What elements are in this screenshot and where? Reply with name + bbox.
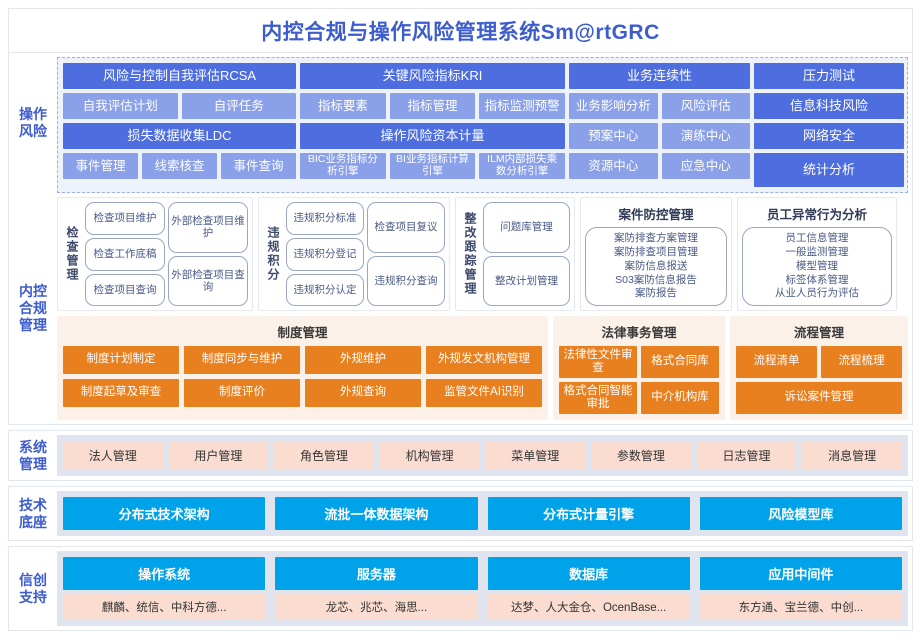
chip-risk-model-library[interactable]: 风险模型库 [700,497,902,530]
chip-stream-batch-data-architecture[interactable]: 流批一体数据架构 [275,497,477,530]
pill-external-inspection-query[interactable]: 外部检查项目查询 [168,256,248,307]
card-title-policy-management: 制度管理 [63,320,542,346]
card-process-management: 流程管理 流程清单 流程梳理 诉讼案件管理 [730,316,908,420]
section-system-management: 系统管理 法人管理 用户管理 角色管理 机构管理 菜单管理 参数管理 日志管理 … [8,430,913,481]
app-root: 内控合规与操作风险管理系统Sm@rtGRC 操作风险 风险与控制自我评估RCSA… [0,0,921,640]
btn-process-mapping[interactable]: 流程梳理 [821,346,902,378]
block-rcsa[interactable]: 风险与控制自我评估RCSA [63,63,296,89]
btn-external-reg-maintenance[interactable]: 外规维护 [305,346,421,374]
block-indicator-monitoring-alert[interactable]: 指标监测预警 [479,93,565,119]
block-ilm-engine[interactable]: ILM内部损失乘数分析引擎 [479,153,565,179]
pill-violation-points-standard[interactable]: 违规积分标准 [286,202,364,235]
btn-external-reg-query[interactable]: 外规查询 [305,379,421,407]
block-event-query[interactable]: 事件查询 [221,153,296,179]
block-business-continuity[interactable]: 业务连续性 [569,63,750,89]
page-title: 内控合规与操作风险管理系统Sm@rtGRC [261,16,660,46]
block-op-risk-capital[interactable]: 操作风险资本计量 [300,123,565,149]
pill-inspection-item-review[interactable]: 检查项目复议 [367,202,445,253]
section-label-operational-risk: 操作风险 [9,53,57,193]
block-bic-engine[interactable]: BIC业务指标分析引擎 [300,153,386,179]
block-kri[interactable]: 关键风险指标KRI [300,63,565,89]
card-legal-affairs: 法律事务管理 法律性文件审查 格式合同库 格式合同智能审批 中介机构库 [553,316,725,420]
block-stress-test[interactable]: 压力测试 [754,63,904,89]
chip-operating-system-vendors[interactable]: 麒麟、统信、中科方德... [63,594,265,620]
case-prevention-item: 案防报告 [589,287,723,301]
case-prevention-item: S03案防信息报告 [589,274,723,288]
chip-distributed-measurement-engine[interactable]: 分布式计量引擎 [488,497,690,530]
section-label-xinchuang-support: 信创支持 [9,547,57,630]
btn-legal-doc-review[interactable]: 法律性文件审查 [559,346,637,378]
employee-behavior-item: 从业人员行为评估 [746,287,888,301]
section-internal-control: 内控合规管理 检查管理 检查项目维护 检查工作底稿 检查项目查询 [9,193,912,424]
block-clue-verification[interactable]: 线索核查 [142,153,217,179]
case-prevention-item: 案防信息报送 [589,260,723,274]
chip-operating-system[interactable]: 操作系统 [63,557,265,590]
chip-org-management[interactable]: 机构管理 [380,441,480,470]
employee-behavior-item: 一般监测管理 [746,246,888,260]
card-inspection-management: 检查管理 检查项目维护 检查工作底稿 检查项目查询 外部检查项目维护 外部检查项… [57,197,253,311]
block-resource-center[interactable]: 资源中心 [569,153,658,179]
btn-policy-plan[interactable]: 制度计划制定 [63,346,179,374]
xinchuang-group-os: 操作系统 麒麟、统信、中科方德... [63,557,265,620]
op-column-kri: 关键风险指标KRI 指标要素 指标管理 指标监测预警 操作风险资本计量 BIC业… [300,63,565,187]
btn-standard-contract-library[interactable]: 格式合同库 [641,346,719,378]
chip-database-vendors[interactable]: 达梦、人大金仓、OcenBase... [488,594,690,620]
btn-external-reg-issuing-org[interactable]: 外规发文机构管理 [426,346,542,374]
pill-issue-library-management[interactable]: 问题库管理 [483,202,570,253]
section-label-system-management: 系统管理 [9,431,57,480]
pill-rectification-plan-management[interactable]: 整改计划管理 [483,256,570,307]
xinchuang-group-middleware: 应用中间件 东方通、宝兰德、中创... [700,557,902,620]
chip-server-vendors[interactable]: 龙芯、兆芯、海思... [275,594,477,620]
card-title-employee-behavior: 员工异常行为分析 [742,202,892,227]
chip-log-management[interactable]: 日志管理 [697,441,797,470]
btn-policy-sync-maintenance[interactable]: 制度同步与维护 [184,346,300,374]
section-label-tech-base: 技术底座 [9,487,57,540]
card-title-process-management: 流程管理 [736,320,902,346]
chip-application-middleware[interactable]: 应用中间件 [700,557,902,590]
section-operational-risk: 操作风险 风险与控制自我评估RCSA 自我评估计划 自评任务 损失数据收集LDC [9,53,912,193]
pill-violation-points-registration[interactable]: 违规积分登记 [286,238,364,271]
op-column-business-continuity: 业务连续性 业务影响分析 风险评估 预案中心 演练中心 资源中心 [569,63,750,187]
block-risk-assessment[interactable]: 风险评估 [662,93,751,119]
block-ldc[interactable]: 损失数据收集LDC [63,123,296,149]
block-indicator-elements[interactable]: 指标要素 [300,93,386,119]
xinchuang-group-database: 数据库 达梦、人大金仓、OcenBase... [488,557,690,620]
case-prevention-item: 案防排查方案管理 [589,232,723,246]
chip-distributed-tech-architecture[interactable]: 分布式技术架构 [63,497,265,530]
btn-regulatory-doc-ai[interactable]: 监管文件AI识别 [426,379,542,407]
btn-intermediary-org-library[interactable]: 中介机构库 [641,382,719,414]
section-xinchuang-support: 信创支持 操作系统 麒麟、统信、中科方德... 服务器 龙芯、兆芯、海思... [8,546,913,631]
card-case-prevention: 案件防控管理 案防排查方案管理 案防排查项目管理 案防信息报送 S03案防信息报… [580,197,732,311]
main-frame: 操作风险 风险与控制自我评估RCSA 自我评估计划 自评任务 损失数据收集LDC [8,52,913,425]
btn-standard-contract-ai-approval[interactable]: 格式合同智能审批 [559,382,637,414]
btn-process-list[interactable]: 流程清单 [736,346,817,378]
pill-violation-points-determination[interactable]: 违规积分认定 [286,274,364,307]
pill-inspection-workpaper[interactable]: 检查工作底稿 [85,238,165,271]
section-label-internal-control: 内控合规管理 [9,193,57,424]
chip-role-management[interactable]: 角色管理 [274,441,374,470]
pill-violation-points-query[interactable]: 违规积分查询 [367,256,445,307]
block-drill-center[interactable]: 演练中心 [662,123,751,149]
pill-case-prevention-items[interactable]: 案防排查方案管理 案防排查项目管理 案防信息报送 S03案防信息报告 案防报告 [585,227,727,306]
block-bi-engine[interactable]: BI业务指标计算引擎 [390,153,476,179]
block-self-assessment-plan[interactable]: 自我评估计划 [63,93,178,119]
chip-application-middleware-vendors[interactable]: 东方通、宝兰德、中创... [700,594,902,620]
block-emergency-center[interactable]: 应急中心 [662,153,751,179]
chip-menu-management[interactable]: 菜单管理 [486,441,586,470]
employee-behavior-item: 员工信息管理 [746,232,888,246]
employee-behavior-item: 模型管理 [746,260,888,274]
btn-policy-evaluation[interactable]: 制度评价 [184,379,300,407]
op-column-stress-test: 压力测试 信息科技风险 网络安全 统计分析 [754,63,904,187]
pill-inspection-item-query[interactable]: 检查项目查询 [85,274,165,307]
card-label-rectification-tracking: 整改跟踪管理 [460,202,480,306]
pill-external-inspection-maintenance[interactable]: 外部检查项目维护 [168,202,248,253]
chip-database[interactable]: 数据库 [488,557,690,590]
card-employee-behavior: 员工异常行为分析 员工信息管理 一般监测管理 模型管理 标签体系管理 从业人员行… [737,197,897,311]
chip-legal-entity-management[interactable]: 法人管理 [63,441,163,470]
card-violation-points: 违规积分 违规积分标准 违规积分登记 违规积分认定 检查项目复议 违规积分查询 [258,197,450,311]
block-network-security[interactable]: 网络安全 [754,123,904,149]
chip-user-management[interactable]: 用户管理 [169,441,269,470]
block-statistical-analysis[interactable]: 统计分析 [754,153,904,187]
block-plan-center[interactable]: 预案中心 [569,123,658,149]
block-event-management[interactable]: 事件管理 [63,153,138,179]
card-policy-management: 制度管理 制度计划制定 制度同步与维护 外规维护 外规发文机构管理 制度起草及审… [57,316,548,420]
operational-risk-panel: 风险与控制自我评估RCSA 自我评估计划 自评任务 损失数据收集LDC 事件管理… [57,57,908,193]
title-bar: 内控合规与操作风险管理系统Sm@rtGRC [8,8,913,52]
pill-inspection-item-maintenance[interactable]: 检查项目维护 [85,202,165,235]
btn-policy-draft-review[interactable]: 制度起草及审查 [63,379,179,407]
block-it-risk[interactable]: 信息科技风险 [754,93,904,119]
section-tech-base: 技术底座 分布式技术架构 流批一体数据架构 分布式计量引擎 风险模型库 [8,486,913,541]
case-prevention-item: 案防排查项目管理 [589,246,723,260]
chip-server[interactable]: 服务器 [275,557,477,590]
employee-behavior-item: 标签体系管理 [746,274,888,288]
card-title-case-prevention: 案件防控管理 [585,202,727,227]
card-title-legal-affairs: 法律事务管理 [559,320,719,346]
block-self-assessment-task[interactable]: 自评任务 [182,93,297,119]
block-business-impact-analysis[interactable]: 业务影响分析 [569,93,658,119]
pill-employee-behavior-items[interactable]: 员工信息管理 一般监测管理 模型管理 标签体系管理 从业人员行为评估 [742,227,892,306]
card-label-violation-points: 违规积分 [263,202,283,306]
block-indicator-management[interactable]: 指标管理 [390,93,476,119]
card-label-inspection-management: 检查管理 [62,202,82,306]
btn-litigation-case-management[interactable]: 诉讼案件管理 [736,382,902,414]
chip-message-management[interactable]: 消息管理 [802,441,902,470]
chip-parameter-management[interactable]: 参数管理 [591,441,691,470]
xinchuang-group-server: 服务器 龙芯、兆芯、海思... [275,557,477,620]
card-rectification-tracking: 整改跟踪管理 问题库管理 整改计划管理 [455,197,575,311]
op-column-rcsa: 风险与控制自我评估RCSA 自我评估计划 自评任务 损失数据收集LDC 事件管理… [63,63,296,187]
